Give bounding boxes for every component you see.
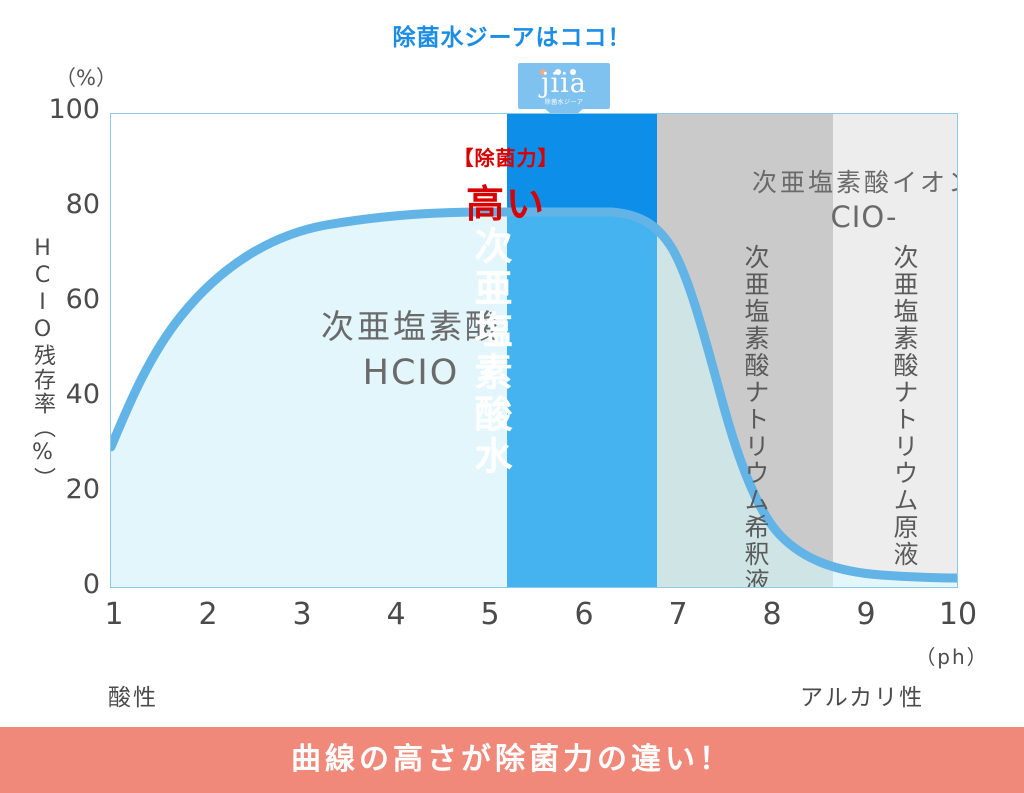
y-tick-0: 0	[30, 569, 100, 600]
x-tick-6: 6	[564, 597, 604, 632]
chlorite-ion-callout: 次亜塩素酸イオン CIO-	[709, 166, 958, 234]
top-callout-text: 除菌水ジーアはココ！	[0, 18, 1024, 52]
x-axis-acidic-label: 酸性	[108, 678, 158, 712]
x-axis-unit: （ph）	[892, 641, 1012, 670]
y-tick-100: 100	[30, 94, 100, 125]
disinfection-power-callout: 【除菌力】 高い	[391, 142, 621, 228]
logo-wordmark: jiia	[518, 69, 610, 99]
x-tick-10: 10	[925, 597, 991, 632]
x-axis-alkaline-label: アルカリ性	[800, 678, 924, 712]
power-bracket-label: 【除菌力】	[454, 146, 559, 170]
x-tick-8: 8	[752, 597, 792, 632]
x-tick-7: 7	[658, 597, 698, 632]
logo-subtext: 除菌水ジーア	[518, 97, 610, 106]
bottom-banner-text: 曲線の高さが除菌力の違い！	[0, 727, 1024, 793]
y-tick-80: 80	[30, 189, 100, 220]
region-label-sodium-hypochlorite-stock: 次亜塩素酸ナトリウム原液	[886, 244, 922, 568]
x-tick-1: 1	[94, 597, 134, 632]
x-tick-2: 2	[188, 597, 228, 632]
x-tick-5: 5	[470, 597, 510, 632]
region1-formula: HCIO	[231, 350, 591, 396]
region1-title: 次亜塩素酸	[231, 304, 591, 350]
x-tick-3: 3	[282, 597, 322, 632]
chart-plot-area: 次亜塩素酸 HCIO 【除菌力】 高い 次亜塩素酸水 次亜塩素酸イオン CIO-…	[110, 113, 958, 588]
region-label-hypochlorous-acid: 次亜塩素酸 HCIO	[231, 304, 591, 396]
region-label-sodium-hypochlorite-diluted: 次亜塩素酸ナトリウム希釈液	[737, 244, 773, 588]
region-label-hypochlorous-acid-water: 次亜塩素酸水	[463, 226, 518, 478]
x-tick-4: 4	[376, 597, 416, 632]
power-value-label: 高い	[391, 173, 621, 228]
bottom-banner: 曲線の高さが除菌力の違い！	[0, 727, 1024, 793]
ion-name-label: 次亜塩素酸イオン	[709, 166, 958, 200]
y-axis-title: HCIO残存率（%）	[26, 236, 58, 491]
x-tick-9: 9	[846, 597, 886, 632]
ion-formula-label: CIO-	[709, 200, 958, 234]
infographic-root: 除菌水ジーアはココ！ jiia 除菌水ジーア （%） 100 80 60 40 …	[0, 0, 1024, 793]
